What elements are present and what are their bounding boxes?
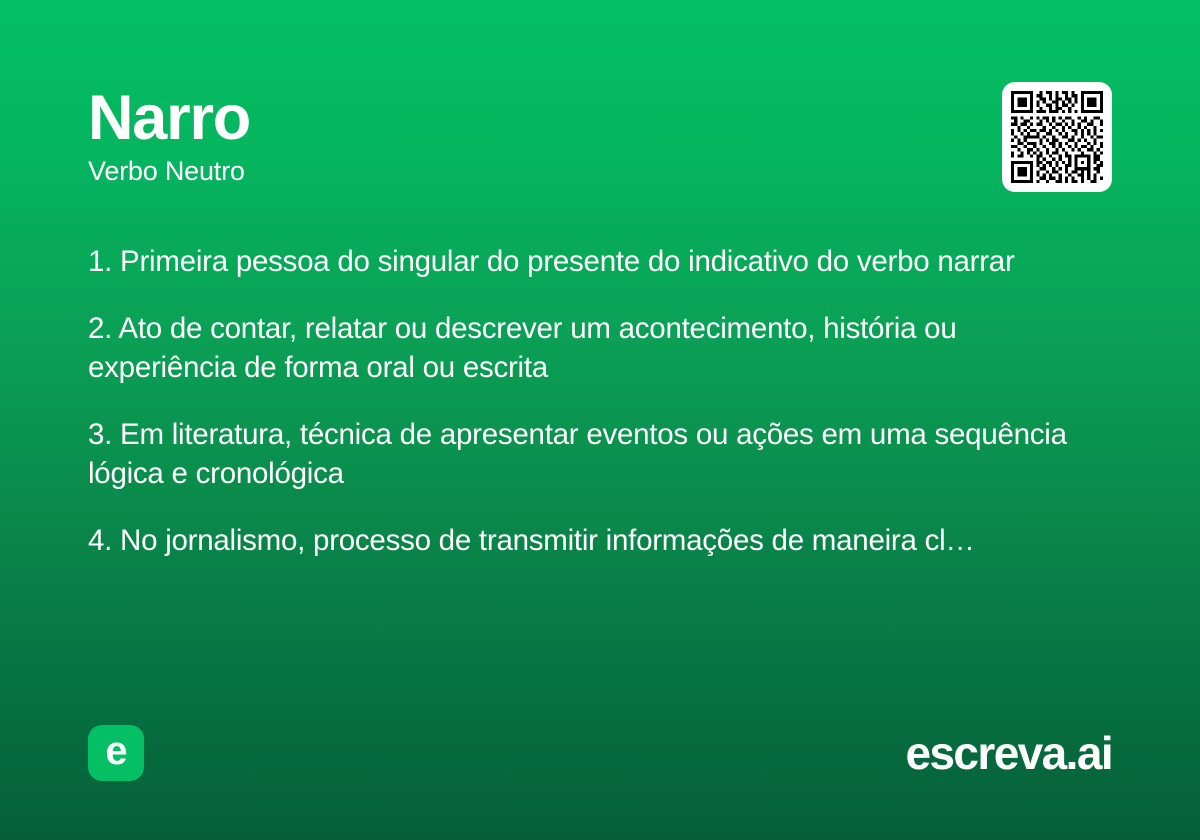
definition-item: 4. No jornalismo, processo de transmitir…	[88, 522, 1112, 561]
word-headings: Narro Verbo Neutro	[88, 82, 250, 187]
definition-item: 3. Em literatura, técnica de apresentar …	[88, 416, 1112, 494]
card-header: Narro Verbo Neutro	[88, 82, 1112, 192]
card-footer: e escreva.ai	[88, 724, 1112, 782]
word-class-label: Verbo Neutro	[88, 156, 250, 187]
qr-code[interactable]	[1002, 82, 1112, 192]
brand-logo-letter: e	[105, 731, 126, 771]
brand-logo-badge[interactable]: e	[88, 725, 144, 781]
brand-wordmark: escreva.ai	[905, 730, 1112, 776]
definition-item: 1. Primeira pessoa do singular do presen…	[88, 243, 1112, 282]
qr-code-icon	[1011, 91, 1103, 183]
definition-card: Narro Verbo Neutro	[0, 0, 1200, 840]
definition-item: 2. Ato de contar, relatar ou descrever u…	[88, 310, 1112, 388]
definitions-list: 1. Primeira pessoa do singular do presen…	[88, 243, 1112, 561]
page-title: Narro	[88, 86, 250, 150]
